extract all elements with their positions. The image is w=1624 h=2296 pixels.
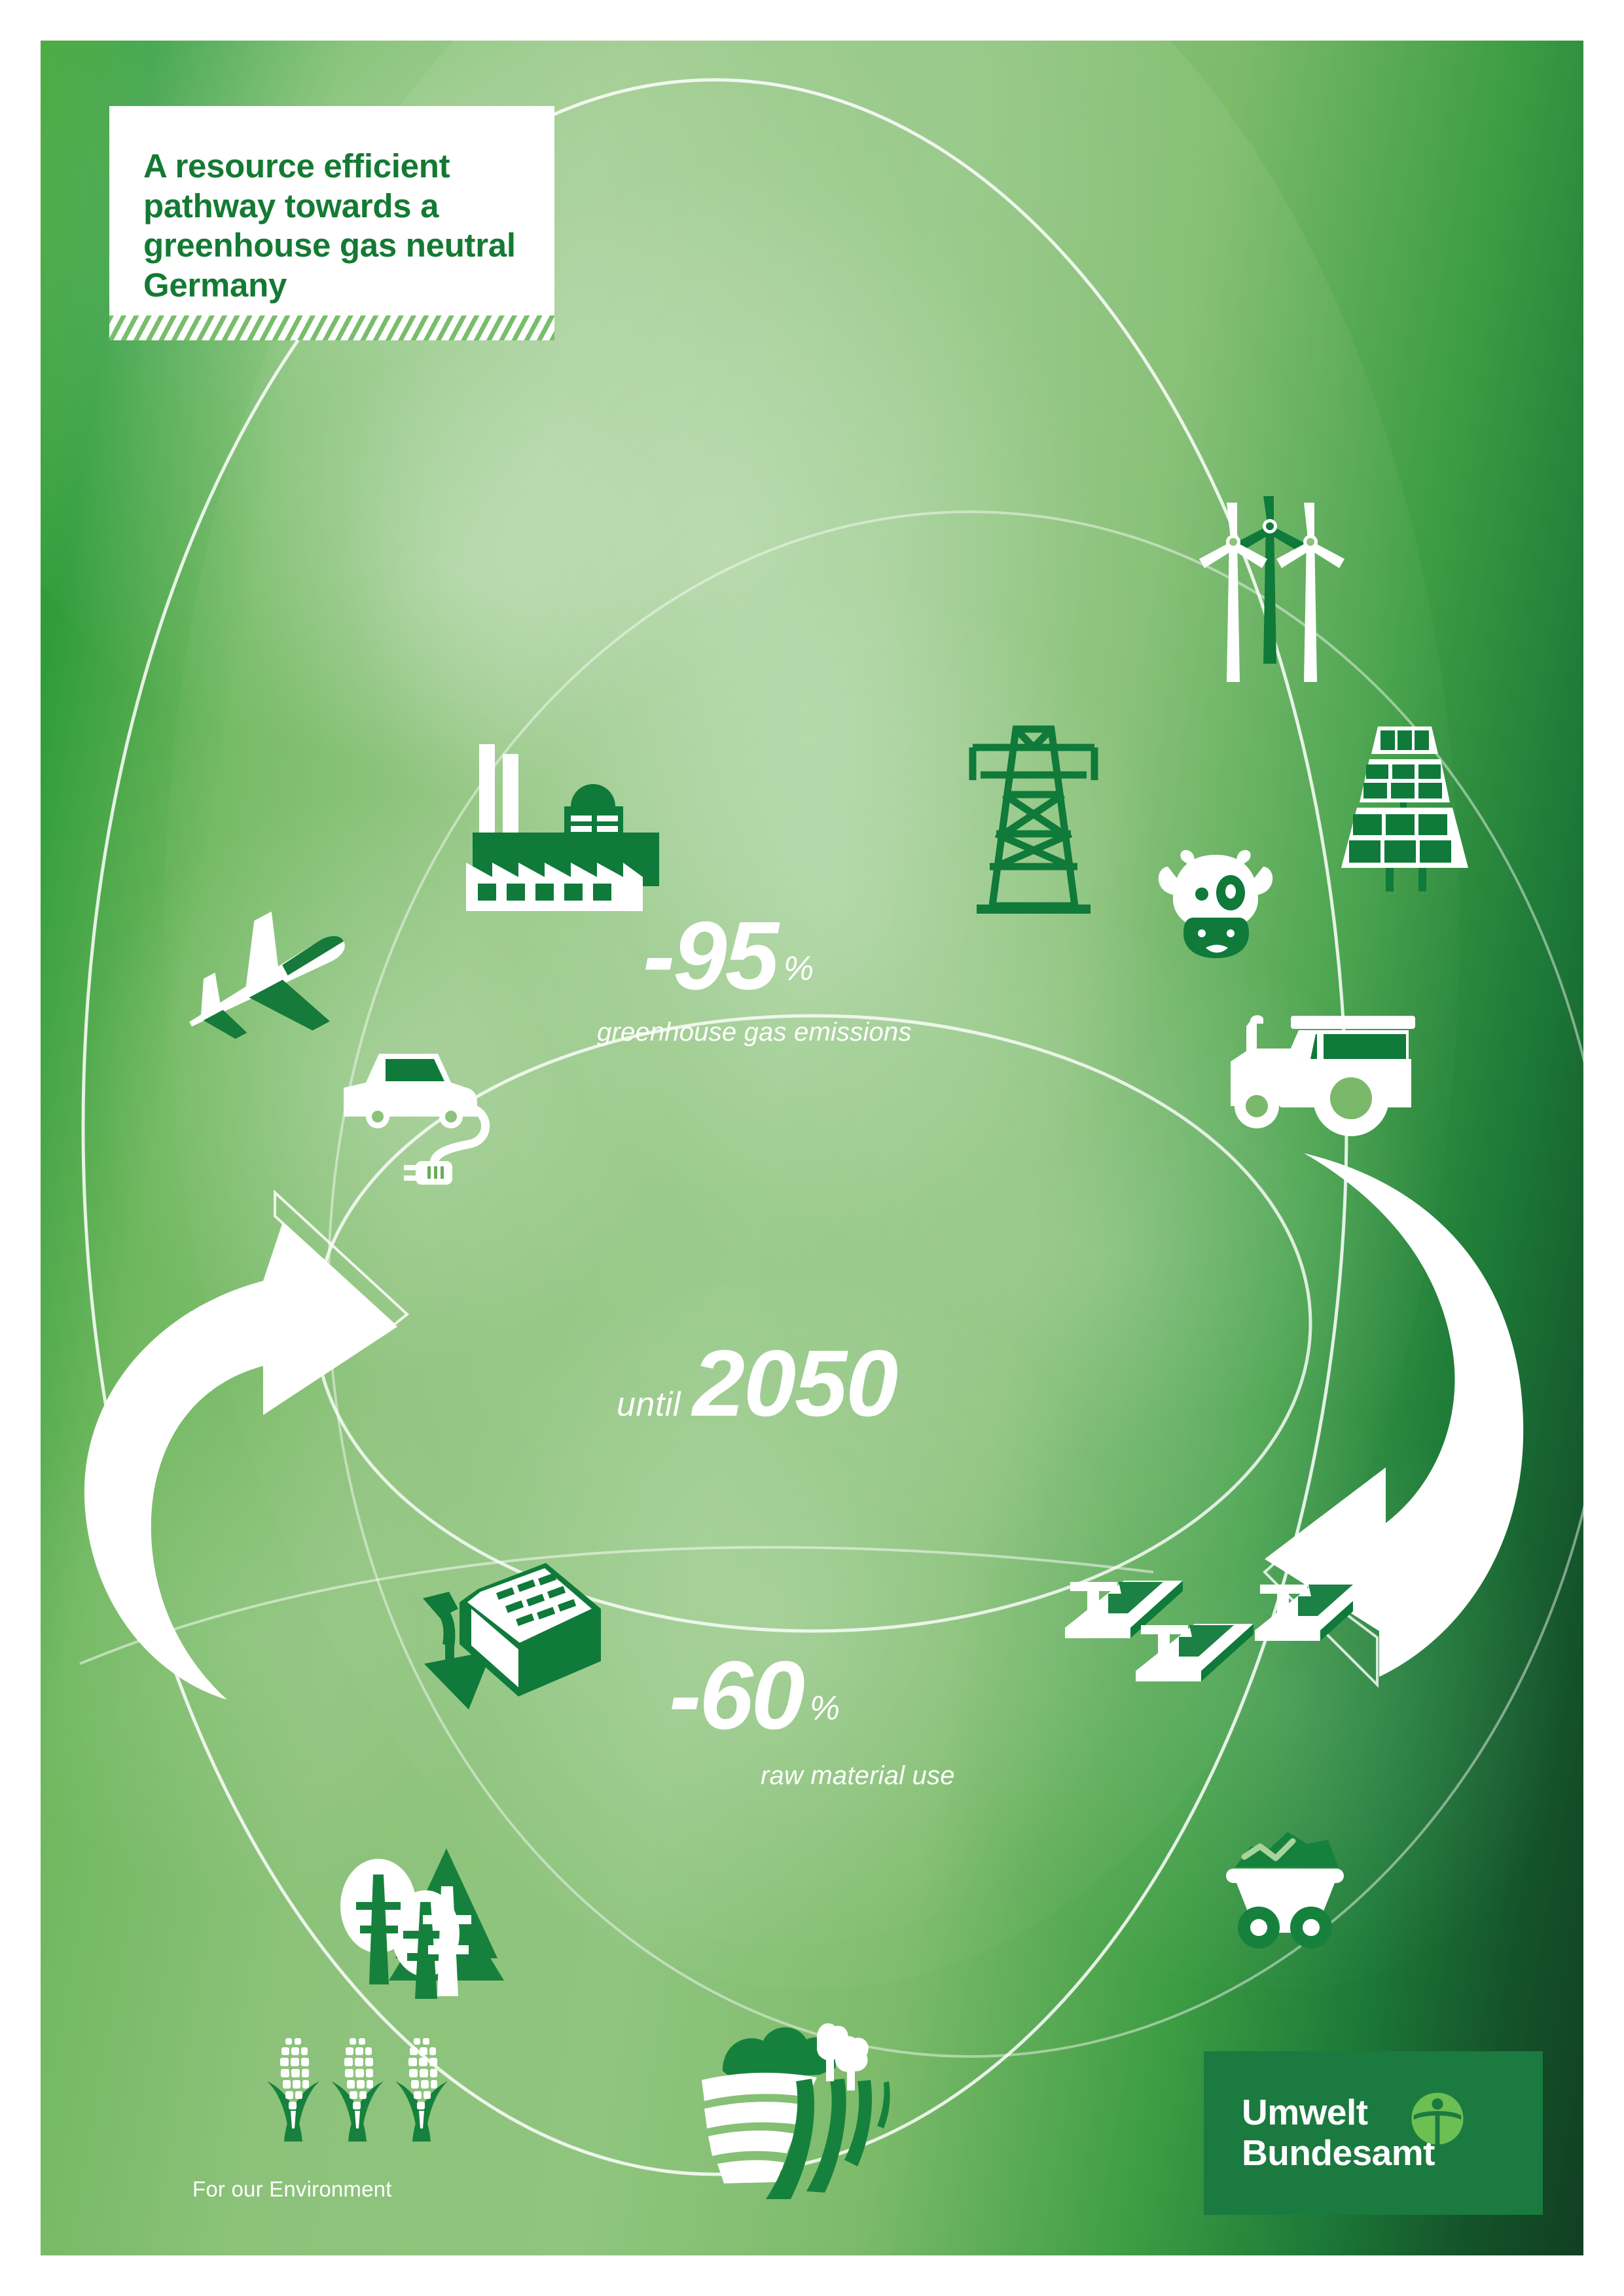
stat-value-row: -95% [643, 908, 912, 1005]
factory-icon [466, 741, 662, 937]
airplane-icon [168, 905, 358, 1068]
stat-raw-material: -60% raw material use [669, 1647, 955, 1791]
corn-icon [263, 2024, 460, 2142]
wind-turbine-icon [1193, 492, 1389, 715]
farmland-icon [695, 1998, 918, 2214]
stat-value-row: -60% [669, 1647, 955, 1744]
stat-label: raw material use [761, 1761, 955, 1791]
stat-unit: % [784, 950, 814, 988]
target-year: until 2050 [617, 1336, 897, 1431]
stat-unit: % [810, 1689, 840, 1727]
cycle-arrow-left-icon [67, 1153, 433, 1729]
electric-car-icon [338, 1035, 496, 1186]
mining-cart-icon [1216, 1818, 1392, 1968]
page-title: A resource efficient pathway towards a g… [143, 147, 520, 306]
title-box: A resource efficient pathway towards a g… [109, 106, 554, 315]
target-year-value: 2050 [693, 1336, 897, 1431]
hatch-divider [109, 315, 554, 340]
steel-beams-icon [1045, 1549, 1353, 1700]
cow-icon [1153, 846, 1278, 963]
solar-panel-icon [1320, 721, 1490, 898]
trees-icon [322, 1834, 538, 2050]
poster: A resource efficient pathway towards a g… [41, 41, 1583, 2255]
uba-person-leaf-icon [1409, 2090, 1466, 2147]
brick-trowel-icon [420, 1546, 636, 1762]
stat-value: -95 [643, 902, 777, 1010]
tagline: For our Environment [192, 2177, 392, 2202]
power-pylon-icon [965, 709, 1102, 919]
stat-value: -60 [669, 1641, 803, 1749]
target-year-prefix: until [617, 1385, 681, 1424]
stat-label: greenhouse gas emissions [597, 1018, 912, 1047]
title-card: A resource efficient pathway towards a g… [109, 106, 554, 340]
stat-greenhouse-gas: -95% greenhouse gas emissions [643, 908, 912, 1047]
tractor-icon [1212, 1001, 1428, 1145]
uba-logo: Umwelt Bundesamt [1204, 2051, 1543, 2215]
uba-logo-text: Umwelt Bundesamt [1242, 2092, 1435, 2173]
